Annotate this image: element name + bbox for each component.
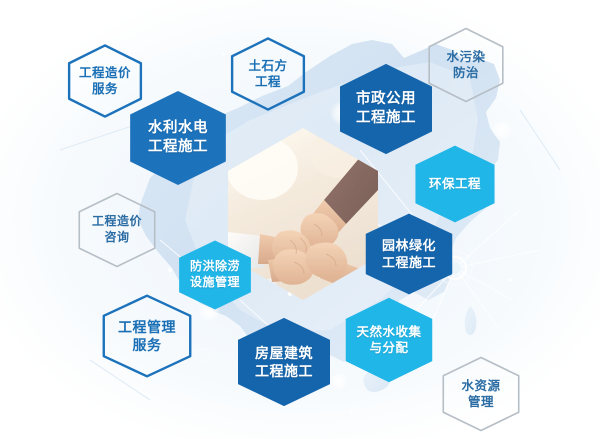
hexagon-label: 工程造价 咨询 xyxy=(92,214,142,246)
hexagon-municipal-public-works[interactable]: 市政公用 工程施工 xyxy=(336,62,436,156)
hexagon-label: 工程管理 服务 xyxy=(118,318,176,355)
hexagon-landscaping-engineering[interactable]: 园林绿化 工程施工 xyxy=(362,212,456,296)
hexagon-water-pollution-control[interactable]: 水污染 防治 xyxy=(426,27,506,103)
hexagon-water-resource-management[interactable]: 水资源 管理 xyxy=(440,356,522,432)
hexagon-earthwork-engineering[interactable]: 土石方 工程 xyxy=(229,37,307,111)
hexagon-label: 水资源 管理 xyxy=(461,378,500,411)
hexagon-water-conservancy-hydropower[interactable]: 水利水电 工程施工 xyxy=(126,89,230,187)
hexagon-label: 园林绿化 工程施工 xyxy=(382,237,436,271)
hexagon-label: 天然水收集 与分配 xyxy=(356,324,421,357)
infographic-canvas: 工程造价 服务土石方 工程水污染 防治市政公用 工程施工水利水电 工程施工环保工… xyxy=(0,0,600,439)
hexagon-label: 房屋建筑 工程施工 xyxy=(255,344,313,381)
hexagon-building-construction-engineering[interactable]: 房屋建筑 工程施工 xyxy=(234,316,334,408)
hexagon-label: 市政公用 工程施工 xyxy=(356,90,416,128)
hexagon-label: 水利水电 工程施工 xyxy=(148,119,208,157)
hexagon-label: 土石方 工程 xyxy=(248,58,287,91)
hexagon-label: 工程造价 服务 xyxy=(79,65,131,98)
hexagon-engineering-management-service[interactable]: 工程管理 服务 xyxy=(100,294,194,378)
hexagon-label: 防洪除涝 设施管理 xyxy=(190,259,240,291)
hexagon-engineering-cost-consulting[interactable]: 工程造价 咨询 xyxy=(76,192,158,268)
hexagon-label: 环保工程 xyxy=(429,176,481,193)
hexagon-label: 水污染 防治 xyxy=(446,49,485,82)
hexagon-natural-water-collection-distribution[interactable]: 天然水收集 与分配 xyxy=(342,296,436,384)
